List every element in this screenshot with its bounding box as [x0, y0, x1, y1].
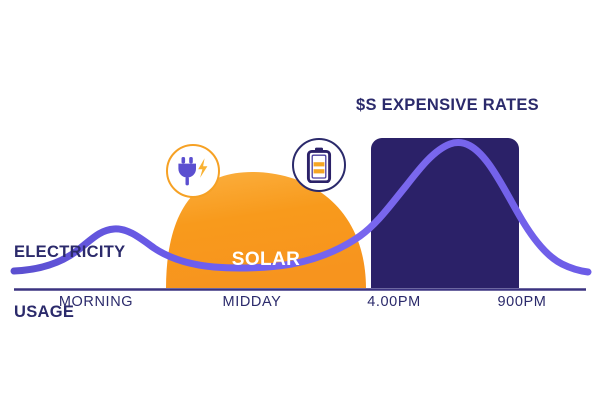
solar-production-line-1: SOLAR	[192, 248, 340, 272]
axis-label-nine-pm: 900PM	[470, 294, 574, 310]
battery-charging-icon	[306, 147, 332, 183]
axis-label-midday: MIDDAY	[196, 294, 308, 310]
battery-icon-badge	[292, 138, 346, 192]
expensive-rates-bar	[371, 138, 519, 289]
axis-label-four-pm: 4.00PM	[342, 294, 446, 310]
electricity-usage-line-1: ELECTRICITY	[14, 242, 125, 262]
solar-production-line-2: PRODUCTION	[192, 320, 340, 344]
electricity-usage-label: ELECTRICITY USAGE	[14, 202, 125, 362]
axis-label-morning: MORNING	[36, 294, 156, 310]
plug-bolt-icon	[174, 155, 212, 187]
expensive-rates-label: $S EXPENSIVE RATES	[356, 95, 539, 115]
plug-icon-badge	[166, 144, 220, 198]
solar-usage-infographic: ELECTRICITY USAGE SOLAR PRODUCTION $S EX…	[0, 0, 600, 404]
